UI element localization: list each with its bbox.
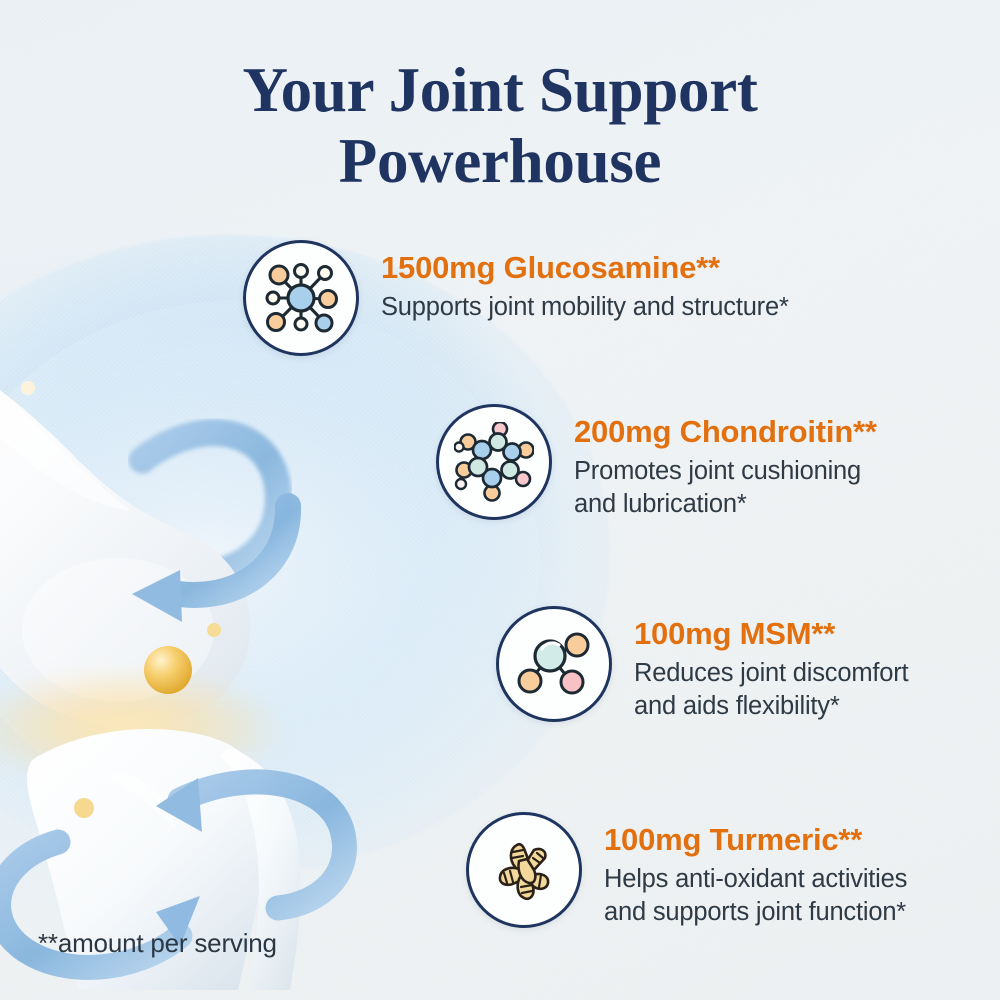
feature-row-glucosamine: 1500mg Glucosamine** Supports joint mobi… — [243, 240, 789, 356]
feature-headline: 200mg Chondroitin** — [574, 414, 877, 451]
feature-row-msm: 100mg MSM** Reduces joint discomfort and… — [496, 606, 908, 724]
feature-subtitle: Supports joint mobility and structure* — [381, 291, 789, 325]
footnote-amount-per-serving: **amount per serving — [38, 928, 277, 959]
feature-headline: 100mg Turmeric** — [604, 822, 907, 859]
feature-text-turmeric: 100mg Turmeric** Helps anti-oxidant acti… — [604, 812, 907, 930]
feature-row-chondroitin: 200mg Chondroitin** Promotes joint cushi… — [436, 404, 877, 522]
infographic-canvas: Your Joint Support Powerhouse — [0, 0, 1000, 1000]
turmeric-root-icon — [466, 812, 582, 928]
molecule-tetra-icon — [496, 606, 612, 722]
feature-headline: 1500mg Glucosamine** — [381, 250, 789, 287]
molecule-hub-icon — [243, 240, 359, 356]
molecule-ring-icon — [436, 404, 552, 520]
feature-text-chondroitin: 200mg Chondroitin** Promotes joint cushi… — [574, 404, 877, 522]
page-title: Your Joint Support Powerhouse — [0, 55, 1000, 196]
feature-headline: 100mg MSM** — [634, 616, 908, 653]
feature-row-turmeric: 100mg Turmeric** Helps anti-oxidant acti… — [466, 812, 907, 930]
feature-subtitle: Helps anti-oxidant activities and suppor… — [604, 863, 907, 931]
feature-subtitle: Reduces joint discomfort and aids flexib… — [634, 657, 908, 725]
knee-joint-illustration — [0, 330, 440, 990]
feature-text-msm: 100mg MSM** Reduces joint discomfort and… — [634, 606, 908, 724]
feature-subtitle: Promotes joint cushioning and lubricatio… — [574, 455, 877, 523]
feature-text-glucosamine: 1500mg Glucosamine** Supports joint mobi… — [381, 240, 789, 324]
